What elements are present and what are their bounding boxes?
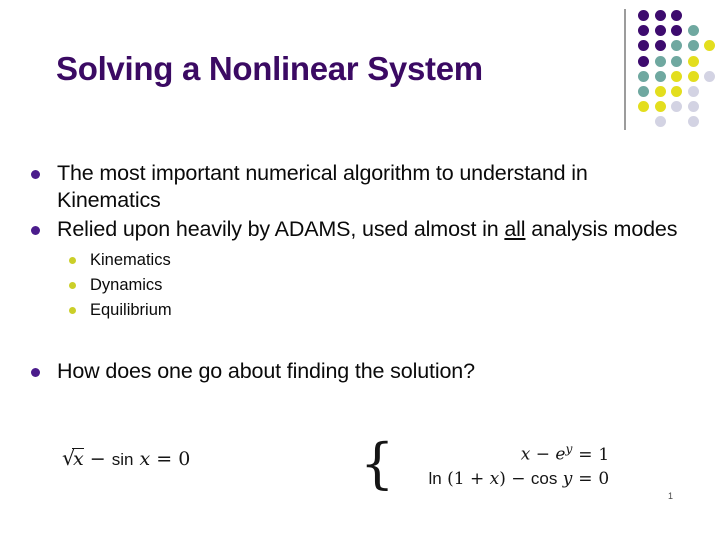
system-equation-row: x − ey = 1 [400, 442, 616, 465]
bullet-list: The most important numerical algorithm t… [26, 160, 694, 387]
system-rhs: 1 [598, 445, 616, 465]
bullet-text: Relied upon heavily by ADAMS, used almos… [57, 216, 677, 243]
list-item: Relied upon heavily by ADAMS, used almos… [26, 216, 694, 243]
bullet-text: The most important numerical algorithm t… [57, 160, 694, 214]
decoration-dot [688, 86, 699, 97]
decoration-dot [671, 40, 682, 51]
decoration-dot [671, 71, 682, 82]
decoration-dot [655, 56, 666, 67]
decoration-dot [655, 116, 666, 127]
system-rows: x − ey = 1 ln (1 + x) − cos y = 0 [400, 442, 616, 489]
decoration-dot [688, 40, 699, 51]
emphasis-underline: all [504, 217, 525, 241]
decoration-dot [655, 86, 666, 97]
list-item: Kinematics [69, 249, 694, 271]
decoration-dot [638, 25, 649, 36]
list-item: Equilibrium [69, 299, 694, 321]
decoration-dot [655, 101, 666, 112]
decoration-dot [704, 40, 715, 51]
decoration-dot [638, 56, 649, 67]
equals-sign: = [572, 469, 598, 489]
sin-function: sin [112, 450, 134, 469]
page-number: 1 [668, 491, 673, 501]
equals-sign: = [572, 445, 598, 465]
sub-bullet-text: Equilibrium [90, 299, 172, 321]
system-lhs: x − ey [400, 442, 572, 465]
decoration-dot [671, 25, 682, 36]
decoration-dot [671, 86, 682, 97]
decoration-dot [638, 40, 649, 51]
list-item: How does one go about finding the soluti… [26, 358, 694, 385]
decoration-dot [671, 101, 682, 112]
decoration-dot [655, 40, 666, 51]
decoration-dot [655, 10, 666, 21]
equals-sign: = [156, 448, 172, 470]
minus-operator: − [90, 448, 106, 470]
page-title: Solving a Nonlinear System [56, 50, 483, 88]
decoration-dot [638, 71, 649, 82]
system-rhs: 0 [598, 469, 616, 489]
sub-bullet-text: Kinematics [90, 249, 171, 271]
decoration-dot [671, 10, 682, 21]
list-item: The most important numerical algorithm t… [26, 160, 694, 214]
decoration-dot [688, 71, 699, 82]
square-root-icon: √ x [62, 447, 84, 470]
decoration-dot [638, 86, 649, 97]
equation-single-variable: √ x − sin x = 0 [62, 447, 190, 470]
decoration-dot [638, 10, 649, 21]
decoration-dot [671, 56, 682, 67]
dot-grid-decoration [618, 0, 720, 136]
decoration-dot [688, 101, 699, 112]
decoration-dot [655, 71, 666, 82]
bullet-marker-icon [31, 226, 40, 235]
bullet-marker-icon [31, 170, 40, 179]
decoration-dot [704, 71, 715, 82]
bullet-marker-icon [31, 368, 40, 377]
decoration-dot [688, 116, 699, 127]
list-item: Dynamics [69, 274, 694, 296]
sub-bullet-text: Dynamics [90, 274, 162, 296]
bullet-text: How does one go about finding the soluti… [57, 358, 475, 385]
equation-system-nonlinear: { x − ey = 1 ln (1 + x) − cos y = 0 [360, 442, 616, 489]
sub-bullet-list: Kinematics Dynamics Equilibrium [69, 249, 694, 321]
header-divider-rule [624, 9, 626, 130]
decoration-dot [688, 56, 699, 67]
sin-argument: x [140, 448, 151, 470]
system-lhs: ln (1 + x) − cos y [400, 469, 572, 489]
decoration-dot [655, 25, 666, 36]
decoration-dot [688, 25, 699, 36]
sub-bullet-marker-icon [69, 307, 76, 314]
decoration-dot [638, 101, 649, 112]
equation-rhs: 0 [178, 448, 190, 470]
system-equation-row: ln (1 + x) − cos y = 0 [400, 469, 616, 489]
sub-bullet-marker-icon [69, 282, 76, 289]
sub-bullet-marker-icon [69, 257, 76, 264]
left-brace-icon: { [360, 444, 394, 484]
